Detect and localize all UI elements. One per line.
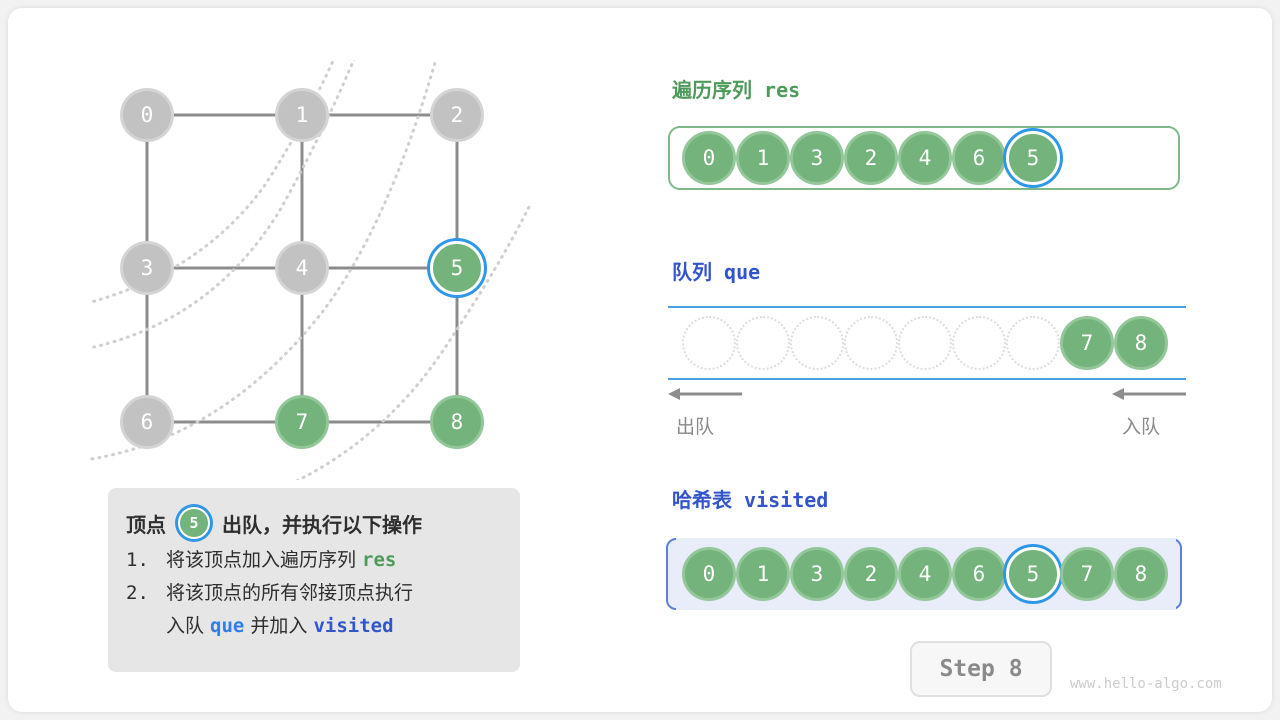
- visited-items: 013246578: [682, 547, 1168, 601]
- queue-empty-slot: [790, 316, 844, 370]
- annotation-head-prefix: 顶点: [126, 509, 166, 538]
- annotation-line-text: 将该顶点加入遍历序列 res: [166, 544, 396, 577]
- annotation-text-fragment: 将该顶点加入遍历序列: [166, 549, 362, 571]
- res-title: 遍历序列 res: [672, 74, 800, 103]
- graph-node-6[interactable]: 6: [120, 395, 174, 449]
- annotation-text-fragment: 将该顶点的所有邻接顶点执行: [166, 582, 413, 604]
- annotation-steps: 1.将该顶点加入遍历序列 res2.将该顶点的所有邻接顶点执行入队 que 并加…: [126, 544, 502, 643]
- diagram-canvas: 012345678 遍历序列 res 0132465 队列 que 78 出队 …: [0, 0, 1280, 720]
- res-node-2: 2: [844, 131, 898, 185]
- queue-line-bottom: [668, 378, 1186, 380]
- annotation-text-fragment: 入队: [166, 615, 210, 637]
- annotation-text-fragment: visited: [313, 615, 393, 637]
- step-badge: Step 8: [910, 641, 1052, 697]
- res-node-6: 6: [952, 131, 1006, 185]
- graph-node-3[interactable]: 3: [120, 241, 174, 295]
- graph-node-4[interactable]: 4: [275, 241, 329, 295]
- annotation-line-text: 入队 que 并加入 visited: [166, 610, 394, 643]
- visited-node-1: 1: [736, 547, 790, 601]
- graph-panel: 012345678: [90, 60, 550, 480]
- annotation-node-5: 5: [178, 507, 210, 539]
- que-title: 队列 que: [672, 256, 760, 285]
- annotation-line-number: 1.: [126, 544, 166, 577]
- queue-items: 78: [682, 316, 1168, 370]
- queue-empty-slot: [952, 316, 1006, 370]
- queue-node-7: 7: [1060, 316, 1114, 370]
- queue-empty-slot: [844, 316, 898, 370]
- visited-node-7: 7: [1060, 547, 1114, 601]
- enqueue-arrow-icon: [1112, 386, 1186, 402]
- annotation-line-number: 2.: [126, 577, 166, 610]
- annotation-text-fragment: 并加入: [244, 615, 313, 637]
- visited-node-5: 5: [1006, 547, 1060, 601]
- watermark: www.hello-algo.com: [1070, 676, 1222, 692]
- dequeue-arrow-icon: [668, 386, 742, 402]
- annotation-line-2: 2.将该顶点的所有邻接顶点执行: [126, 577, 502, 610]
- enqueue-label: 入队: [1122, 412, 1160, 439]
- graph-node-8[interactable]: 8: [430, 395, 484, 449]
- res-node-3: 3: [790, 131, 844, 185]
- dequeue-label: 出队: [676, 412, 714, 439]
- annotation-text-fragment: res: [362, 549, 396, 571]
- visited-title: 哈希表 visited: [672, 484, 828, 513]
- graph-node-2[interactable]: 2: [430, 88, 484, 142]
- res-node-0: 0: [682, 131, 736, 185]
- res-items: 0132465: [682, 131, 1060, 185]
- queue-empty-slot: [736, 316, 790, 370]
- visited-node-0: 0: [682, 547, 736, 601]
- graph-node-1[interactable]: 1: [275, 88, 329, 142]
- queue-line-top: [668, 306, 1186, 308]
- graph-node-7[interactable]: 7: [275, 395, 329, 449]
- queue-node-8: 8: [1114, 316, 1168, 370]
- queue-empty-slot: [1006, 316, 1060, 370]
- visited-node-6: 6: [952, 547, 1006, 601]
- res-node-5: 5: [1006, 131, 1060, 185]
- visited-node-2: 2: [844, 547, 898, 601]
- graph-node-0[interactable]: 0: [120, 88, 174, 142]
- visited-node-8: 8: [1114, 547, 1168, 601]
- annotation-text-fragment: que: [210, 615, 244, 637]
- annotation-line-number: [126, 610, 166, 643]
- res-node-1: 1: [736, 131, 790, 185]
- annotation-box: 顶点 5 出队，并执行以下操作 1.将该顶点加入遍历序列 res2.将该顶点的所…: [108, 488, 520, 672]
- res-node-4: 4: [898, 131, 952, 185]
- visited-node-3: 3: [790, 547, 844, 601]
- annotation-line-3: 入队 que 并加入 visited: [126, 610, 502, 643]
- queue-empty-slot: [898, 316, 952, 370]
- annotation-heading: 顶点 5 出队，并执行以下操作: [126, 502, 502, 544]
- graph-node-5[interactable]: 5: [430, 241, 484, 295]
- queue-empty-slot: [682, 316, 736, 370]
- annotation-line-1: 1.将该顶点加入遍历序列 res: [126, 544, 502, 577]
- annotation-head-suffix: 出队，并执行以下操作: [222, 509, 422, 538]
- annotation-line-text: 将该顶点的所有邻接顶点执行: [166, 577, 413, 610]
- visited-node-4: 4: [898, 547, 952, 601]
